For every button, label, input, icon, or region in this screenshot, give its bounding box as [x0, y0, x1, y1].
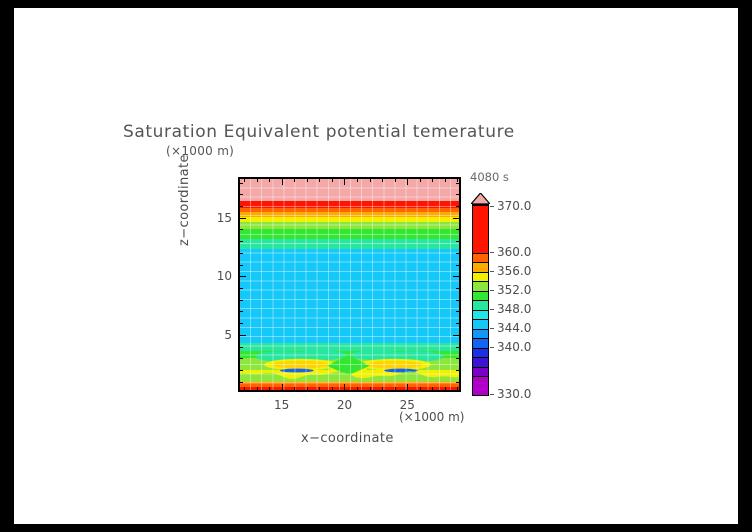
tick-mark [456, 206, 460, 207]
colorbar-divider [473, 376, 488, 377]
tick-mark [432, 178, 433, 182]
colorbar-label: 352.0 [497, 283, 531, 297]
colorbar-segment [473, 357, 488, 367]
colorbar-divider [473, 272, 488, 273]
colorbar-tick [490, 309, 494, 310]
colorbar-divider [473, 357, 488, 358]
tick-mark [239, 347, 243, 348]
tick-mark [239, 206, 243, 207]
y-tick-label: 10 [212, 269, 232, 283]
tick-mark [239, 218, 246, 219]
tick-mark [239, 300, 243, 301]
tick-mark [344, 384, 345, 391]
tick-mark [239, 253, 243, 254]
tick-mark [453, 335, 460, 336]
colorbar-segment [473, 376, 488, 395]
tick-mark [420, 387, 421, 391]
colorbar-tick [490, 347, 494, 348]
tick-mark [307, 178, 308, 182]
colorbar[interactable]: 370.0360.0356.0352.0348.0344.0340.0330.0 [472, 204, 489, 396]
colorbar-tick [490, 206, 494, 207]
tick-mark [456, 382, 460, 383]
colorbar-divider [473, 319, 488, 320]
colorbar-tick [490, 252, 494, 253]
contour-field [239, 178, 460, 391]
tick-mark [294, 178, 295, 182]
tick-mark [307, 387, 308, 391]
tick-mark [420, 178, 421, 182]
timestamp-label: 4080 s [470, 170, 509, 184]
tick-mark [319, 178, 320, 182]
colorbar-tick [490, 271, 494, 272]
tick-mark [239, 358, 243, 359]
tick-mark [456, 183, 460, 184]
tick-mark [456, 194, 460, 195]
colorbar-divider [473, 291, 488, 292]
tick-mark [456, 288, 460, 289]
tick-mark [456, 300, 460, 301]
colorbar-body [472, 204, 489, 396]
colorbar-segment [473, 338, 488, 348]
colorbar-label: 340.0 [497, 340, 531, 354]
tick-mark [382, 178, 383, 182]
colorbar-divider [473, 310, 488, 311]
contour-plot-area[interactable] [238, 177, 461, 392]
tick-mark [239, 323, 243, 324]
x-tick-label: 20 [337, 398, 352, 412]
tick-mark [456, 347, 460, 348]
tick-mark [244, 387, 245, 391]
tick-mark [370, 178, 371, 182]
tick-mark [332, 178, 333, 182]
tick-mark [456, 265, 460, 266]
colorbar-segment [473, 300, 488, 310]
colorbar-segment [473, 281, 488, 291]
tick-mark [244, 178, 245, 182]
tick-mark [453, 218, 460, 219]
tick-mark [456, 229, 460, 230]
y-tick-label: 5 [212, 328, 232, 342]
tick-mark [239, 194, 243, 195]
tick-mark [382, 387, 383, 391]
page-title: Saturation Equivalent potential temeratu… [123, 122, 515, 142]
tick-mark [407, 178, 408, 185]
tick-mark [456, 241, 460, 242]
colorbar-segment [473, 348, 488, 358]
tick-mark [445, 178, 446, 182]
colorbar-segment [473, 272, 488, 282]
tick-mark [445, 387, 446, 391]
colorbar-segment [473, 291, 488, 301]
tick-mark [456, 370, 460, 371]
tick-mark [239, 229, 243, 230]
tick-mark [395, 178, 396, 182]
tick-mark [239, 370, 243, 371]
tick-mark [269, 387, 270, 391]
colorbar-segment [473, 329, 488, 339]
tick-mark [407, 384, 408, 391]
tick-mark [239, 241, 243, 242]
colorbar-segment [473, 319, 488, 329]
tick-mark [357, 178, 358, 182]
tick-mark [257, 178, 258, 182]
colorbar-label: 356.0 [497, 264, 531, 278]
tick-mark [456, 323, 460, 324]
x-axis-units: (×1000 m) [399, 410, 464, 424]
boundary-layer-anomalies [239, 178, 460, 391]
x-tick-label: 15 [274, 398, 289, 412]
tick-mark [257, 387, 258, 391]
colorbar-tick [490, 290, 494, 291]
tick-mark [453, 276, 460, 277]
tick-mark [456, 311, 460, 312]
colorbar-label: 330.0 [497, 387, 531, 401]
colorbar-label: 360.0 [497, 245, 531, 259]
tick-mark [239, 276, 246, 277]
colorbar-tick [490, 394, 494, 395]
colorbar-divider [473, 367, 488, 368]
colorbar-segment [473, 310, 488, 320]
tick-mark [357, 387, 358, 391]
colorbar-segment [473, 367, 488, 377]
colorbar-label: 348.0 [497, 302, 531, 316]
tick-mark [239, 382, 243, 383]
tick-mark [239, 335, 246, 336]
colorbar-divider [473, 338, 488, 339]
tick-mark [332, 387, 333, 391]
tick-mark [294, 387, 295, 391]
colorbar-divider [473, 348, 488, 349]
colorbar-divider [473, 329, 488, 330]
tick-mark [395, 387, 396, 391]
figure-canvas: Saturation Equivalent potential temeratu… [14, 8, 738, 524]
colorbar-divider [473, 253, 488, 254]
colorbar-divider [473, 300, 488, 301]
tick-mark [239, 288, 243, 289]
colorbar-divider [473, 262, 488, 263]
tick-mark [239, 311, 243, 312]
tick-mark [239, 183, 243, 184]
colorbar-segment [473, 253, 488, 263]
colorbar-tick [490, 328, 494, 329]
colorbar-label: 344.0 [497, 321, 531, 335]
x-axis-title: x−coordinate [301, 431, 394, 446]
tick-mark [457, 178, 458, 182]
colorbar-segment [473, 262, 488, 272]
colorbar-divider [473, 281, 488, 282]
tick-mark [269, 178, 270, 182]
colorbar-divider [473, 205, 488, 206]
colorbar-label: 370.0 [497, 199, 531, 213]
tick-mark [282, 384, 283, 391]
tick-mark [282, 178, 283, 185]
tick-mark [319, 387, 320, 391]
colorbar-segment [473, 205, 488, 253]
colorbar-arrow-outline [471, 193, 490, 204]
y-axis-title: z−coordinate [177, 154, 192, 246]
tick-mark [432, 387, 433, 391]
tick-mark [370, 387, 371, 391]
tick-mark [239, 265, 243, 266]
tick-mark [456, 358, 460, 359]
tick-mark [456, 253, 460, 254]
tick-mark [457, 387, 458, 391]
tick-mark [344, 178, 345, 185]
y-tick-label: 15 [212, 211, 232, 225]
